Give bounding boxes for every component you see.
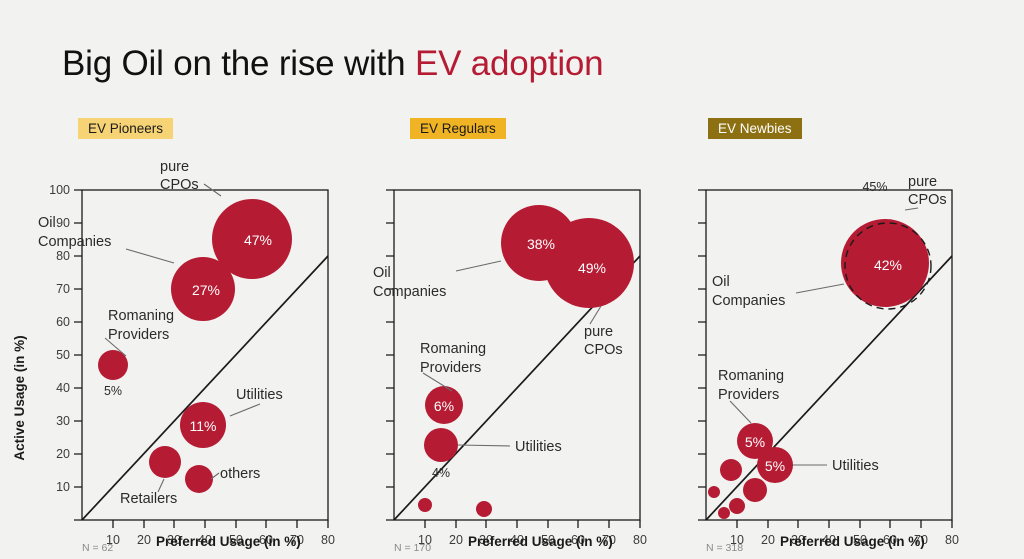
- callout-romaning-2-line2: Providers: [420, 360, 481, 376]
- callout-pure-cpos-line1: pure: [160, 159, 189, 175]
- sample-size-ev-regulars: N = 170: [394, 542, 431, 554]
- bubble-value-romaning-providers: 5%: [104, 384, 122, 398]
- x-axis-title-ev-pioneers: Preferred Usage (in %): [156, 534, 301, 549]
- x-tick-20: 20: [137, 533, 151, 547]
- x-tick-marks: [113, 520, 328, 528]
- chart-title-badge-ev-regulars: EV Regulars: [410, 118, 506, 139]
- scatter-svg-ev-pioneers: Active Usage (in %) 100 90 80 70 60 50 4…: [8, 148, 336, 548]
- page-title-accent: EV adoption: [415, 44, 604, 83]
- callout-pure-cpos-2-line2: CPOs: [584, 342, 623, 358]
- plot-area-ev-newbies: 10 20 30 40 50 60 70 80: [650, 148, 978, 508]
- bubble-small-c-3[interactable]: [708, 486, 720, 498]
- bubble-small-b-2[interactable]: [476, 501, 492, 517]
- x2-tick-80: 80: [633, 533, 647, 547]
- callout-others: others: [211, 466, 260, 482]
- leader-utilities-2: [458, 445, 510, 446]
- y-tick-20: 20: [56, 447, 70, 461]
- bubble-value-oil-companies-3: 42%: [874, 257, 902, 273]
- callout-pure-cpos-line2: CPOs: [160, 177, 199, 193]
- callout-oil-companies-3-line1: Oil: [712, 274, 730, 290]
- scatter-svg-ev-newbies: 10 20 30 40 50 60 70 80: [650, 148, 978, 548]
- page-title: Big Oil on the rise with EV adoption: [62, 44, 603, 84]
- callout-romaning-providers-3: Romaning Providers: [718, 368, 784, 423]
- callout-utilities-label: Utilities: [236, 387, 283, 403]
- callout-others-label: others: [220, 466, 260, 482]
- callout-utilities-2: Utilities: [458, 439, 562, 455]
- callout-romaning-2-line1: Romaning: [420, 341, 486, 357]
- page-title-lead: Big Oil on the rise with: [62, 44, 415, 83]
- callout-oil-companies-2-line2: Companies: [373, 284, 446, 300]
- y-tick-90: 90: [56, 216, 70, 230]
- y-tick-70: 70: [56, 282, 70, 296]
- bubble-value-oil-companies: 27%: [192, 282, 220, 298]
- bubble-value-pure-cpos: 47%: [244, 232, 272, 248]
- bubble-small-a-2[interactable]: [418, 498, 432, 512]
- bubble-value-romaning-2: 6%: [434, 398, 454, 414]
- bubble-others[interactable]: [185, 465, 213, 493]
- callout-oil-companies-3: Oil Companies: [712, 274, 844, 309]
- bubble-value-pure-cpos-2: 49%: [578, 260, 606, 276]
- x3-tick-80: 80: [945, 533, 959, 547]
- bubble-small-a-3[interactable]: [720, 459, 742, 481]
- bubble-small-e-3[interactable]: [718, 507, 730, 519]
- y-tick-40: 40: [56, 381, 70, 395]
- chart-title-badge-ev-newbies: EV Newbies: [708, 118, 802, 139]
- callout-pure-cpos-3-line2: CPOs: [908, 192, 947, 208]
- bubble-value-pure-cpos-3: 45%: [862, 180, 887, 194]
- callout-utilities-2-label: Utilities: [515, 439, 562, 455]
- sample-size-ev-newbies: N = 318: [706, 542, 743, 554]
- x-axis-title-ev-newbies: Preferred Usage (in %): [780, 534, 925, 549]
- bubble-value-romaning-3: 5%: [745, 434, 765, 450]
- callout-oil-companies-2-line1: Oil: [373, 265, 391, 281]
- callout-retailers: Retailers: [120, 479, 177, 507]
- callout-romaning-providers-2: Romaning Providers: [420, 341, 486, 391]
- y-tick-50: 50: [56, 348, 70, 362]
- callout-utilities-3: Utilities: [793, 458, 879, 474]
- x-axis-title-ev-regulars: Preferred Usage (in %): [468, 534, 613, 549]
- x-tick-80: 80: [321, 533, 335, 547]
- callout-utilities: Utilities: [230, 387, 283, 416]
- y-axis-title: Active Usage (in %): [12, 335, 27, 460]
- plot-area-ev-pioneers: Active Usage (in %) 100 90 80 70 60 50 4…: [8, 148, 336, 508]
- leader-utilities: [230, 404, 260, 416]
- chart-panel-ev-pioneers: EV Pioneers Active Usage (in %) 100 90 8…: [8, 112, 336, 542]
- charts-row: EV Pioneers Active Usage (in %) 100 90 8…: [0, 112, 1024, 542]
- y-tick-100: 100: [49, 183, 70, 197]
- callout-pure-cpos-2-line1: pure: [584, 324, 613, 340]
- chart-title-badge-ev-pioneers: EV Pioneers: [78, 118, 173, 139]
- plot-area-ev-regulars: 10 20 30 40 50 60 70 80 38% 49%: [338, 148, 666, 508]
- y-tick-80: 80: [56, 249, 70, 263]
- callout-retailers-label: Retailers: [120, 491, 177, 507]
- callout-romaning-line2: Providers: [108, 327, 169, 343]
- bubble-value-utilities-2: 4%: [432, 466, 450, 480]
- callout-oil-companies-3-line2: Companies: [712, 293, 785, 309]
- leader-romaning-3: [730, 401, 751, 423]
- scatter-svg-ev-regulars: 10 20 30 40 50 60 70 80 38% 49%: [338, 148, 666, 548]
- y-tick-10: 10: [56, 480, 70, 494]
- callout-romaning-3-line1: Romaning: [718, 368, 784, 384]
- leader-oil-companies: [126, 249, 174, 263]
- bubble-value-oil-companies-2: 38%: [527, 236, 555, 252]
- leader-pure-cpos-3: [905, 208, 918, 210]
- bubble-small-b-3[interactable]: [743, 478, 767, 502]
- bubble-retailers[interactable]: [149, 446, 181, 478]
- leader-oil-companies-3: [796, 284, 844, 293]
- callout-oil-companies-2: Oil Companies: [373, 261, 501, 300]
- callout-pure-cpos-3: pure CPOs: [905, 174, 947, 210]
- y-tick-marks-3: [698, 190, 706, 520]
- callout-romaning-providers: Romaning Providers: [105, 308, 174, 356]
- x2-tick-20: 20: [449, 533, 463, 547]
- bubble-small-d-3[interactable]: [729, 498, 745, 514]
- x-tick-marks-2: [425, 520, 640, 528]
- x-tick-marks-3: [737, 520, 952, 528]
- callout-romaning-line1: Romaning: [108, 308, 174, 324]
- y-tick-marks-2: [386, 190, 394, 520]
- chart-panel-ev-regulars: EV Regulars 10 20 30 40 50 60 70: [338, 112, 666, 542]
- sample-size-ev-pioneers: N = 62: [82, 542, 113, 554]
- y-tick-60: 60: [56, 315, 70, 329]
- y-tick-30: 30: [56, 414, 70, 428]
- callout-oil-companies-line1: Oil: [38, 215, 56, 231]
- leader-oil-companies-2: [456, 261, 501, 271]
- bubble-value-utilities-3: 5%: [765, 458, 785, 474]
- chart-panel-ev-newbies: EV Newbies 10 20 30 40 50 60 70: [650, 112, 978, 542]
- x3-tick-20: 20: [761, 533, 775, 547]
- callout-pure-cpos-2: pure CPOs: [584, 306, 623, 358]
- bubble-value-utilities: 11%: [190, 418, 217, 434]
- callout-pure-cpos-3-line1: pure: [908, 174, 937, 190]
- callout-romaning-3-line2: Providers: [718, 387, 779, 403]
- callout-oil-companies-line2: Companies: [38, 234, 111, 250]
- callout-utilities-3-label: Utilities: [832, 458, 879, 474]
- bubble-utilities-2[interactable]: [424, 428, 458, 462]
